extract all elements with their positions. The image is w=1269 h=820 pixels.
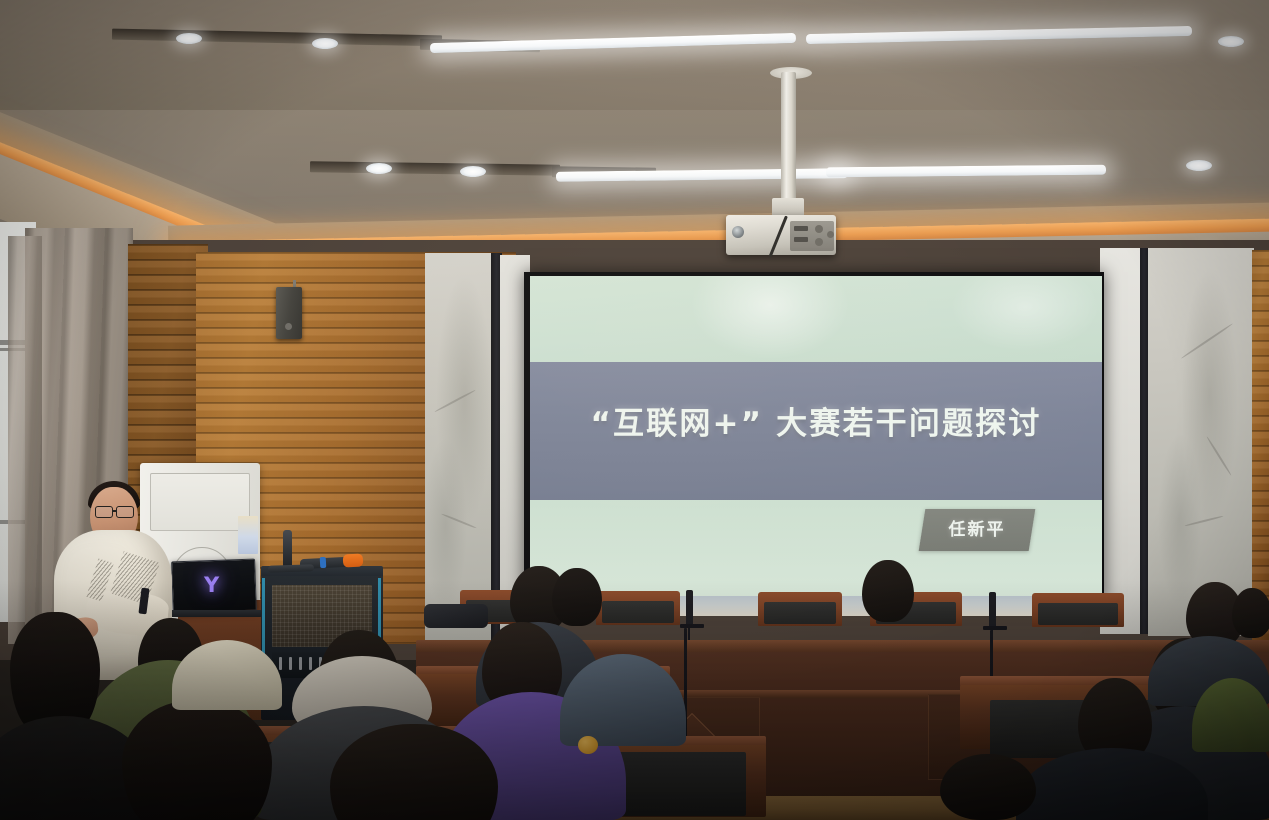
glasses-lens-right	[116, 506, 134, 518]
wall-panel-light	[1100, 248, 1140, 634]
marble-pillar	[425, 253, 493, 641]
table-microphone	[686, 590, 693, 626]
audience-head	[552, 568, 602, 626]
slide-title: “互联网+” 大赛若干问题探讨	[530, 405, 1102, 443]
av-rack-slider	[289, 657, 292, 670]
ceiling-spot-light	[366, 163, 392, 174]
orange-fruit-on-bench	[578, 736, 598, 754]
glasses-lens-left	[95, 506, 113, 518]
projector-knob	[815, 225, 823, 233]
bench-bag	[424, 604, 488, 628]
wall-speaker	[276, 287, 302, 339]
ceiling-upper-plane	[0, 0, 1269, 120]
air-conditioner-label	[238, 516, 258, 554]
ceiling-spot-light	[1186, 160, 1212, 171]
ceiling-spot-light	[176, 33, 202, 44]
slide-speaker-name: 任新平	[922, 509, 1032, 551]
lecture-hall-photo: “互联网+” 大赛若干问题探讨 任新平 Y	[0, 0, 1269, 820]
av-rack-slider	[309, 657, 312, 670]
microphone-windscreen	[343, 553, 364, 567]
av-rack-slider	[279, 657, 282, 670]
glasses-bridge	[113, 510, 117, 512]
window-curtain	[8, 236, 42, 644]
marble-pillar	[1148, 248, 1254, 636]
stage-chair-cushion	[764, 602, 836, 624]
projector-port	[794, 226, 808, 231]
microphone-band	[320, 557, 327, 568]
projector-knob	[827, 231, 834, 238]
audience-head	[940, 754, 1036, 820]
table-microphone-base	[983, 626, 1007, 630]
slide-speaker-plate: 任新平	[919, 509, 1036, 551]
audience-head	[10, 612, 100, 732]
projector-mount-pole	[781, 72, 796, 206]
stage-chair-cushion	[602, 601, 674, 623]
wood-slat-wall	[1252, 250, 1269, 640]
ceiling-spot-light	[312, 38, 338, 49]
slide-band-top	[530, 276, 1102, 362]
ceiling-spot-light	[1218, 36, 1244, 47]
handheld-microphone-upright	[283, 530, 292, 568]
air-conditioner-grille	[150, 473, 250, 531]
projection-screen: “互联网+” 大赛若干问题探讨 任新平	[530, 276, 1102, 598]
stage-chair-cushion	[1038, 603, 1118, 625]
presenter-laptop-base	[168, 610, 262, 617]
audience-head	[1232, 588, 1269, 638]
audience-head	[122, 700, 272, 820]
speaker-driver-icon	[285, 323, 292, 330]
laptop-logo: Y	[204, 575, 219, 596]
ceiling-spot-light	[460, 166, 486, 177]
projector-lens	[732, 226, 744, 238]
projector-port	[794, 237, 808, 242]
table-microphone	[989, 592, 996, 628]
projector-knob	[815, 238, 823, 246]
audience-head	[862, 560, 914, 622]
av-rack-slider	[299, 657, 302, 670]
